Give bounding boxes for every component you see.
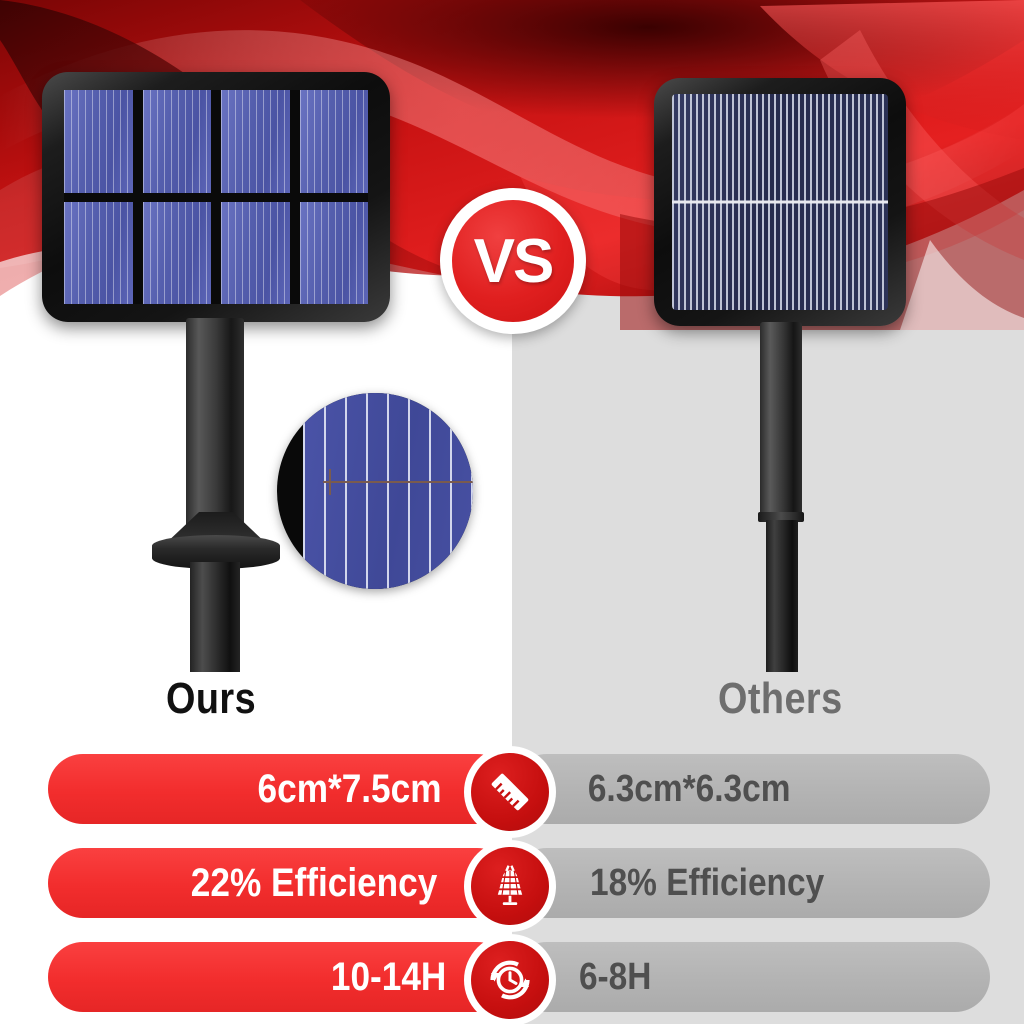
clock-refresh-icon (464, 934, 556, 1024)
comparison-infographic: VS Ours Others 6cm*7.5cm 6.3cm*6.3cm (0, 0, 1024, 1024)
ours-value: 6cm*7.5cm (257, 767, 441, 812)
solar-panel-icon-circle (471, 847, 549, 925)
solar-panel-icon (464, 840, 556, 932)
clock-refresh-icon-glyph (485, 955, 535, 1005)
comparison-rows: 6cm*7.5cm 6.3cm*6.3cm (0, 746, 1024, 1024)
others-value-pill: 18% Efficiency (512, 848, 990, 918)
clock-refresh-icon-circle (471, 941, 549, 1019)
others-stake-upper (760, 322, 802, 514)
solar-cell (143, 202, 212, 305)
ours-solar-panel (42, 72, 390, 322)
busbar-line (672, 201, 888, 204)
ruler-icon-glyph (487, 769, 533, 815)
ours-label: Ours (166, 674, 256, 724)
others-value: 6-8H (579, 956, 651, 999)
solar-cell (221, 90, 290, 193)
others-value: 18% Efficiency (590, 862, 824, 905)
others-value-pill: 6-8H (512, 942, 990, 1012)
ours-value: 10-14H (331, 955, 446, 1000)
ours-value-pill: 22% Efficiency (48, 848, 512, 918)
others-value-pill: 6.3cm*6.3cm (512, 754, 990, 824)
others-panel-cell (672, 94, 888, 310)
ours-panel-cells (64, 90, 368, 304)
ours-value: 22% Efficiency (191, 861, 438, 906)
solar-cell (221, 202, 290, 305)
comparison-row: 10-14H 6-8H (0, 934, 1024, 1024)
others-value: 6.3cm*6.3cm (588, 768, 791, 811)
ours-value-pill: 10-14H (48, 942, 512, 1012)
busbar-line (323, 481, 473, 483)
solar-cell (64, 90, 133, 193)
comparison-row: 6cm*7.5cm 6.3cm*6.3cm (0, 746, 1024, 838)
busbar-tick-left (329, 469, 331, 495)
solar-panel-icon-glyph (486, 862, 534, 910)
solar-cell (64, 202, 133, 305)
solar-cell (300, 90, 369, 193)
magnified-cell-surface (303, 393, 473, 589)
others-stake-lower (766, 520, 798, 672)
vs-badge-inner: VS (452, 200, 574, 322)
ours-value-pill: 6cm*7.5cm (48, 754, 512, 824)
comparison-row: 22% Efficiency 18% Efficiency (0, 840, 1024, 932)
solar-cell (300, 202, 369, 305)
ours-stake-lower (190, 562, 240, 672)
vs-label: VS (474, 226, 553, 297)
others-solar-panel (654, 78, 906, 326)
vs-badge: VS (440, 188, 586, 334)
ruler-icon-circle (471, 753, 549, 831)
solar-cell (143, 90, 212, 193)
ruler-icon (464, 746, 556, 838)
others-label: Others (718, 674, 843, 724)
magnified-cell-detail (277, 393, 473, 589)
